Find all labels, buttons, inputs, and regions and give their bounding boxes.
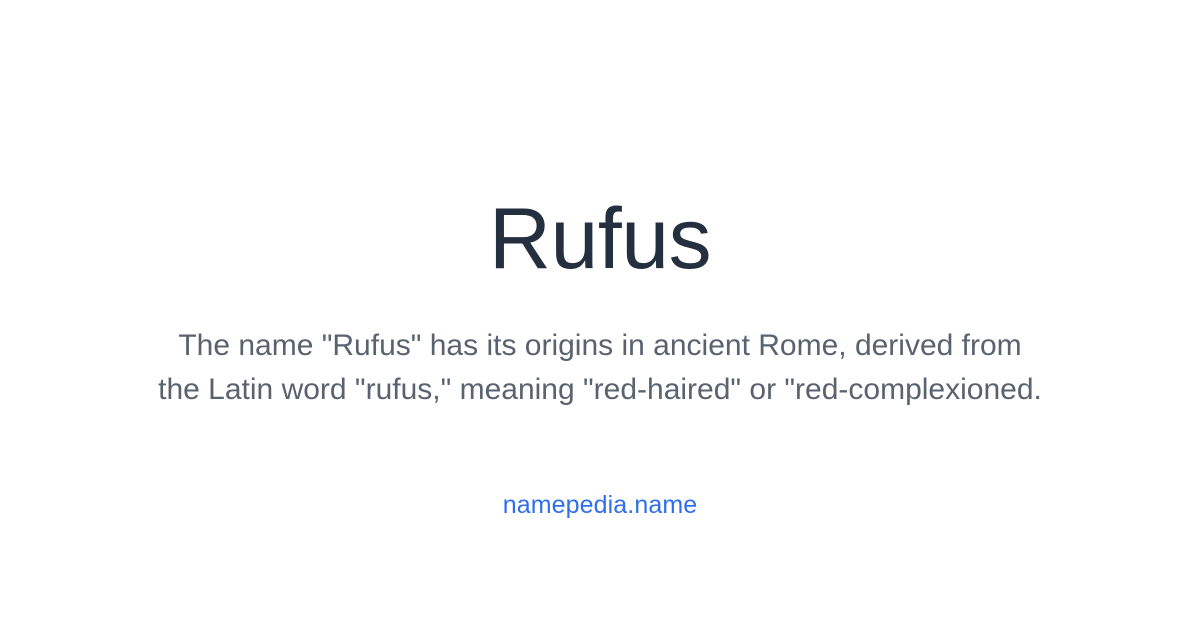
content-stack: Rufus The name "Rufus" has its origins i… bbox=[150, 196, 1050, 520]
site-link[interactable]: namepedia.name bbox=[503, 490, 698, 520]
page-title: Rufus bbox=[489, 196, 711, 282]
name-description: The name "Rufus" has its origins in anci… bbox=[155, 324, 1045, 412]
og-preview-card: Rufus The name "Rufus" has its origins i… bbox=[0, 0, 1200, 630]
